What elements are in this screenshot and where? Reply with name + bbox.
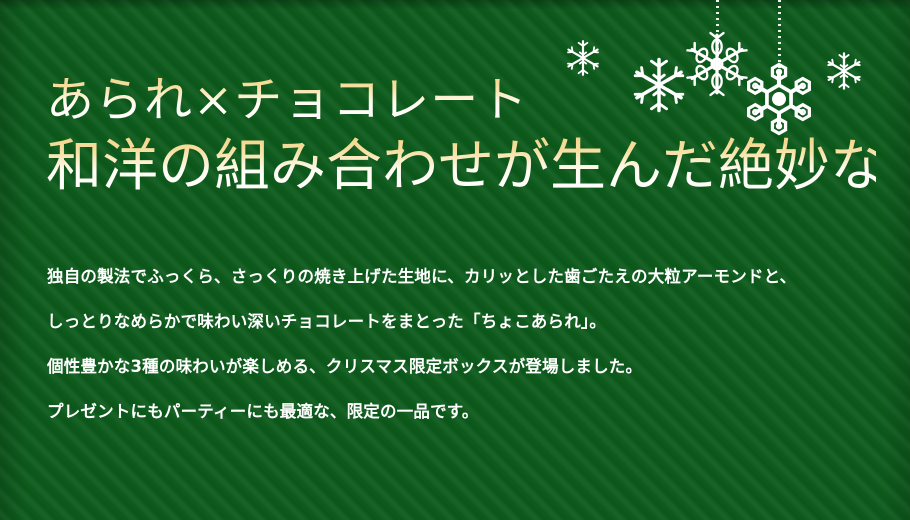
top-shadow-overlay bbox=[0, 0, 910, 10]
body-copy-block: 独自の製法でふっくら、さっくりの焼き上げた生地に、カリッとした歯ごたえの大粒アー… bbox=[47, 254, 877, 434]
right-edge-shadow bbox=[884, 0, 910, 520]
body-copy-line-2: しっとりなめらかで味わい深いチョコレートをまとった「ちょこあられ」。 bbox=[47, 299, 877, 344]
headline-line-1: あられ×チョコレート bbox=[46, 72, 876, 129]
christmas-promo-banner: あられ×チョコレート 和洋の組み合わせが生んだ絶妙な美味しさ 独自の製法でふっく… bbox=[0, 0, 910, 520]
body-copy-line-1: 独自の製法でふっくら、さっくりの焼き上げた生地に、カリッとした歯ごたえの大粒アー… bbox=[47, 254, 877, 299]
headline-line-2: 和洋の組み合わせが生んだ絶妙な美味しさ bbox=[46, 133, 876, 201]
body-copy-line-4: プレゼントにもパーティーにも最適な、限定の一品です。 bbox=[47, 389, 877, 434]
left-edge-shadow bbox=[0, 0, 26, 520]
body-copy-line-3: 個性豊かな3種の味わいが楽しめる、クリスマス限定ボックスが登場しました。 bbox=[47, 344, 877, 389]
headline-block: あられ×チョコレート 和洋の組み合わせが生んだ絶妙な美味しさ bbox=[46, 72, 876, 201]
